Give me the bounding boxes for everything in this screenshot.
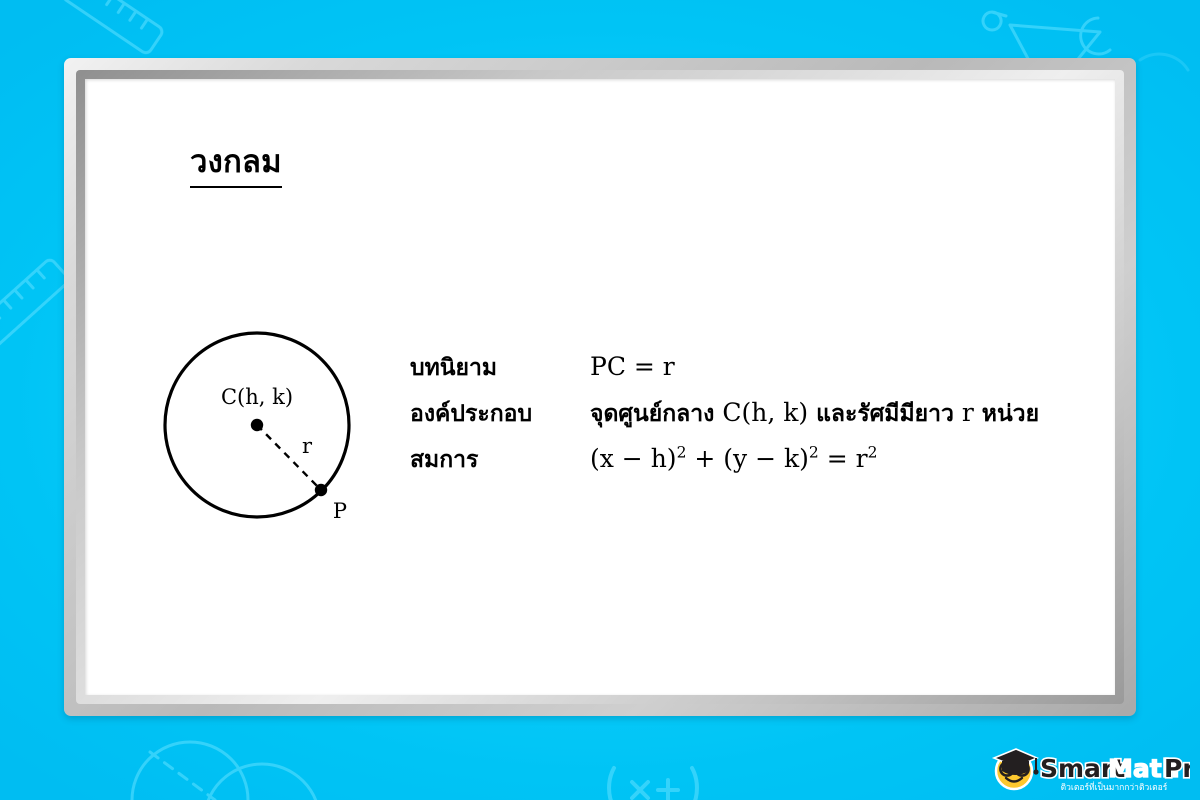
components-radius-symbol: r: [962, 398, 974, 427]
table-row-definition: บทนิยาม PC = r: [410, 351, 1110, 397]
equation-operator: +: [694, 444, 715, 473]
table-row-components: องค์ประกอบ จุดศูนย์กลาง C(h, k) และรัศมี…: [410, 397, 1110, 443]
page-title: วงกลม: [190, 144, 282, 188]
equation-term2-exponent: 2: [809, 444, 819, 462]
row-value-definition: PC = r: [590, 351, 675, 384]
logo-word-pro: Pro: [1164, 754, 1190, 783]
equation-term1-exponent: 2: [677, 444, 687, 462]
definition-expression: PC = r: [590, 352, 675, 381]
equation-equals: =: [827, 444, 848, 473]
circle-diagram: C(h, k) r P: [145, 307, 375, 537]
definition-table: บทนิยาม PC = r องค์ประกอบ จุดศูนย์กลาง C…: [410, 351, 1110, 489]
row-value-components: จุดศูนย์กลาง C(h, k) และรัศมีมียาว r หน่…: [590, 397, 1039, 430]
equation-term1: (x − h): [590, 444, 677, 473]
components-thai-mid: และรัศมีมียาว: [816, 401, 954, 427]
center-point-marker: [251, 419, 263, 431]
equation-result: r: [856, 444, 868, 473]
whiteboard-frame: วงกลม C(h, k) r P บทนิยาม PC = r: [64, 58, 1136, 716]
equation-result-exponent: 2: [868, 444, 878, 462]
row-label-components: องค์ประกอบ: [410, 400, 590, 430]
smartmathpro-logo: Smart Math Pro ติวเตอร์ที่เป็นมากกว่าติว…: [978, 744, 1190, 794]
whiteboard-surface: วงกลม C(h, k) r P บทนิยาม PC = r: [85, 79, 1115, 695]
point-p-marker: [315, 484, 327, 496]
row-label-equation: สมการ: [410, 446, 590, 476]
components-center-expression: C(h, k): [722, 398, 808, 427]
radius-label: r: [302, 434, 313, 458]
mascot-icon: [994, 749, 1039, 789]
point-p-label: P: [333, 499, 347, 523]
equation-term2: (y − k): [723, 444, 809, 473]
table-row-equation: สมการ (x − h)2 + (y − k)2 = r2: [410, 443, 1110, 489]
row-value-equation: (x − h)2 + (y − k)2 = r2: [590, 443, 877, 476]
logo-tagline: ติวเตอร์ที่เป็นมากกว่าติวเตอร์: [1061, 781, 1168, 793]
components-thai-end: หน่วย: [982, 401, 1039, 427]
center-label: C(h, k): [221, 385, 293, 409]
components-thai-lead: จุดศูนย์กลาง: [590, 401, 714, 427]
row-label-definition: บทนิยาม: [410, 354, 590, 384]
